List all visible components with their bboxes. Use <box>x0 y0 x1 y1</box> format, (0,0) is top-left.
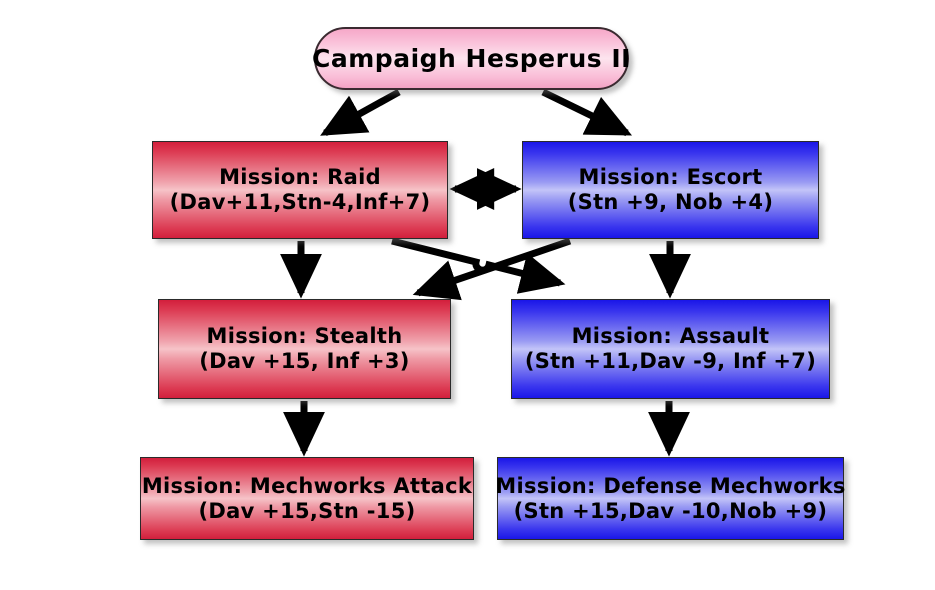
node-mission-raid-line-2: (Dav+11,Stn-4,Inf+7) <box>170 190 431 215</box>
node-mission-escort[interactable]: Mission: Escort (Stn +9, Nob +4) <box>522 141 819 239</box>
diagram-canvas: Campaigh Hesperus II Mission: Raid (Dav+… <box>0 0 935 590</box>
edge-root-to-escort <box>543 92 627 133</box>
node-campaign-root[interactable]: Campaigh Hesperus II <box>314 27 629 90</box>
edge-root-to-raid <box>325 92 399 133</box>
edge-raid-to-assault <box>392 241 560 283</box>
node-mission-mechworks-attack-line-2: (Dav +15,Stn -15) <box>198 499 415 524</box>
node-mission-assault-line-1: Mission: Assault <box>572 324 770 349</box>
node-mission-escort-line-1: Mission: Escort <box>579 165 763 190</box>
node-mission-assault[interactable]: Mission: Assault (Stn +11,Dav -9, Inf +7… <box>511 299 830 399</box>
node-mission-assault-line-2: (Stn +11,Dav -9, Inf +7) <box>525 349 816 374</box>
node-mission-defense-mechworks-line-2: (Stn +15,Dav -10,Nob +9) <box>514 499 828 524</box>
edge-escort-to-stealth <box>418 241 570 293</box>
node-mission-mechworks-attack[interactable]: Mission: Mechworks Attack (Dav +15,Stn -… <box>140 457 474 540</box>
node-mission-defense-mechworks-line-1: Mission: Defense Mechworks <box>495 474 845 499</box>
node-mission-stealth-line-2: (Dav +15, Inf +3) <box>199 349 409 374</box>
node-mission-defense-mechworks[interactable]: Mission: Defense Mechworks (Stn +15,Dav … <box>497 457 844 540</box>
node-campaign-root-line-1: Campaigh Hesperus II <box>312 44 631 74</box>
node-mission-raid[interactable]: Mission: Raid (Dav+11,Stn-4,Inf+7) <box>152 141 448 239</box>
node-mission-stealth[interactable]: Mission: Stealth (Dav +15, Inf +3) <box>158 299 451 399</box>
node-mission-escort-line-2: (Stn +9, Nob +4) <box>568 190 773 215</box>
node-mission-stealth-line-1: Mission: Stealth <box>207 324 403 349</box>
node-mission-raid-line-1: Mission: Raid <box>219 165 381 190</box>
node-mission-mechworks-attack-line-1: Mission: Mechworks Attack <box>142 474 472 499</box>
